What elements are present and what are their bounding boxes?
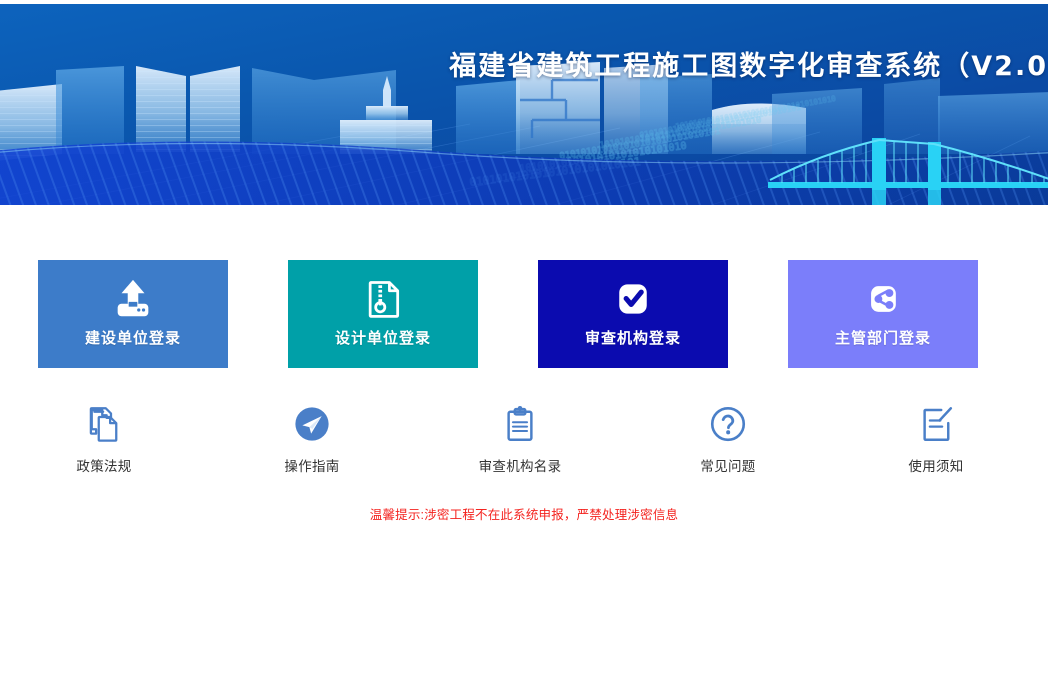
quick-link-row: 政策法规 操作指南 xyxy=(0,400,1048,476)
quick-link-notice[interactable]: 使用须知 xyxy=(832,400,1040,476)
edit-document-icon xyxy=(915,400,957,448)
copy-pages-icon xyxy=(83,400,125,448)
quick-link-label: 常见问题 xyxy=(700,458,755,476)
quick-link-policies[interactable]: 政策法规 xyxy=(0,400,208,476)
login-card-label: 设计单位登录 xyxy=(335,329,431,349)
login-card-authority[interactable]: 主管部门登录 xyxy=(788,260,978,368)
check-square-icon xyxy=(611,274,655,324)
clipboard-list-icon xyxy=(499,400,541,448)
share-nodes-icon xyxy=(861,274,905,324)
login-page: 01010101010101010101010101 1010101010101… xyxy=(0,0,1048,688)
login-card-label: 主管部门登录 xyxy=(835,329,931,349)
page-title: 福建省建筑工程施工图数字化审查系统（V2.0 xyxy=(449,50,1048,84)
question-circle-icon xyxy=(707,400,749,448)
quick-link-label: 使用须知 xyxy=(908,458,963,476)
site-banner: 01010101010101010101010101 1010101010101… xyxy=(0,4,1048,205)
paper-plane-circle-icon xyxy=(291,400,333,448)
login-card-label: 审查机构登录 xyxy=(585,329,681,349)
login-card-review-agency[interactable]: 审查机构登录 xyxy=(538,260,728,368)
login-card-design-unit[interactable]: 设计单位登录 xyxy=(288,260,478,368)
top-white-strip xyxy=(0,0,1048,4)
quick-link-faq[interactable]: 常见问题 xyxy=(624,400,832,476)
quick-link-label: 审查机构名录 xyxy=(479,458,562,476)
security-notice: 温馨提示:涉密工程不在此系统申报，严禁处理涉密信息 xyxy=(0,506,1048,524)
login-card-construction-unit[interactable]: 建设单位登录 xyxy=(38,260,228,368)
quick-link-label: 政策法规 xyxy=(76,458,131,476)
quick-link-label: 操作指南 xyxy=(284,458,339,476)
quick-link-guide[interactable]: 操作指南 xyxy=(208,400,416,476)
quick-link-agency-directory[interactable]: 审查机构名录 xyxy=(416,400,624,476)
login-card-row: 建设单位登录 设计单位登录 xyxy=(38,260,1013,368)
login-card-label: 建设单位登录 xyxy=(85,329,181,349)
banner-illustration: 01010101010101010101010101 1010101010101… xyxy=(0,4,1048,205)
upload-icon xyxy=(110,274,156,324)
zip-document-icon xyxy=(361,274,405,324)
